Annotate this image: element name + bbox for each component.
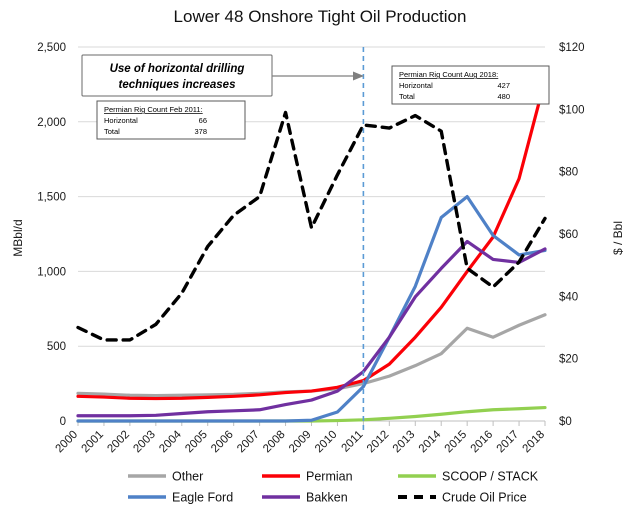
annotation-rig-2018-row0-value: 427 <box>497 81 510 90</box>
y-axis-tick-label: 2,500 <box>37 42 66 54</box>
y-axis-tick-label: 1,000 <box>37 266 66 278</box>
legend-label-eagle-ford: Eagle Ford <box>172 491 233 505</box>
legend-label-other: Other <box>172 470 203 484</box>
legend-label-bakken: Bakken <box>306 491 348 505</box>
annotation-rig-2018-row0-label: Horizontal <box>399 81 433 90</box>
legend-label-scoop-stack: SCOOP / STACK <box>442 470 539 484</box>
y2-axis-tick-label: $0 <box>559 416 572 428</box>
annotation-rig-2011-row1-label: Total <box>104 127 120 136</box>
annotation-drilling-line1: Use of horizontal drilling <box>110 63 245 75</box>
legend-label-permian: Permian <box>306 470 353 484</box>
y-axis-tick-label: 0 <box>60 416 66 428</box>
y-axis-tick-label: 1,500 <box>37 192 66 204</box>
annotation-rig-2018-row1-value: 480 <box>497 92 510 101</box>
annotation-rig-2011-heading: Permian Rig Count Feb 2011: <box>104 105 203 114</box>
y-axis-tick-label: 2,000 <box>37 117 66 129</box>
y2-axis-tick-label: $40 <box>559 291 578 303</box>
annotation-rig-2011-row0-label: Horizontal <box>104 116 138 125</box>
y2-axis-tick-label: $80 <box>559 167 578 179</box>
annotation-rig-2018-heading: Permian Rig Count Aug 2018: <box>399 70 498 79</box>
y-axis-tick-label: 500 <box>47 341 66 353</box>
annotation-permian-rig-2018: Permian Rig Count Aug 2018: Horizontal 4… <box>392 66 549 104</box>
y2-axis-tick-label: $100 <box>559 104 585 116</box>
annotation-rig-2018-row1-label: Total <box>399 92 415 101</box>
y2-axis-tick-label: $20 <box>559 354 578 366</box>
annotation-drilling-line2: techniques increases <box>119 79 236 91</box>
annotation-rig-2011-row0-value: 66 <box>199 116 207 125</box>
chart-container: Lower 48 Onshore Tight Oil Production 05… <box>0 0 640 514</box>
annotation-rig-2011-row1-value: 378 <box>194 127 207 136</box>
y2-axis-tick-label: $60 <box>559 229 578 241</box>
y2-axis-tick-label: $120 <box>559 42 585 54</box>
tight-oil-production-chart: Lower 48 Onshore Tight Oil Production 05… <box>0 0 640 514</box>
annotation-permian-rig-2011: Permian Rig Count Feb 2011: Horizontal 6… <box>97 101 245 139</box>
chart-title: Lower 48 Onshore Tight Oil Production <box>174 7 467 26</box>
y-axis-right-title: $ / Bbl <box>611 221 625 255</box>
legend-label-crude-oil-price: Crude Oil Price <box>442 491 527 505</box>
y-axis-left-title: MBbl/d <box>11 219 25 256</box>
